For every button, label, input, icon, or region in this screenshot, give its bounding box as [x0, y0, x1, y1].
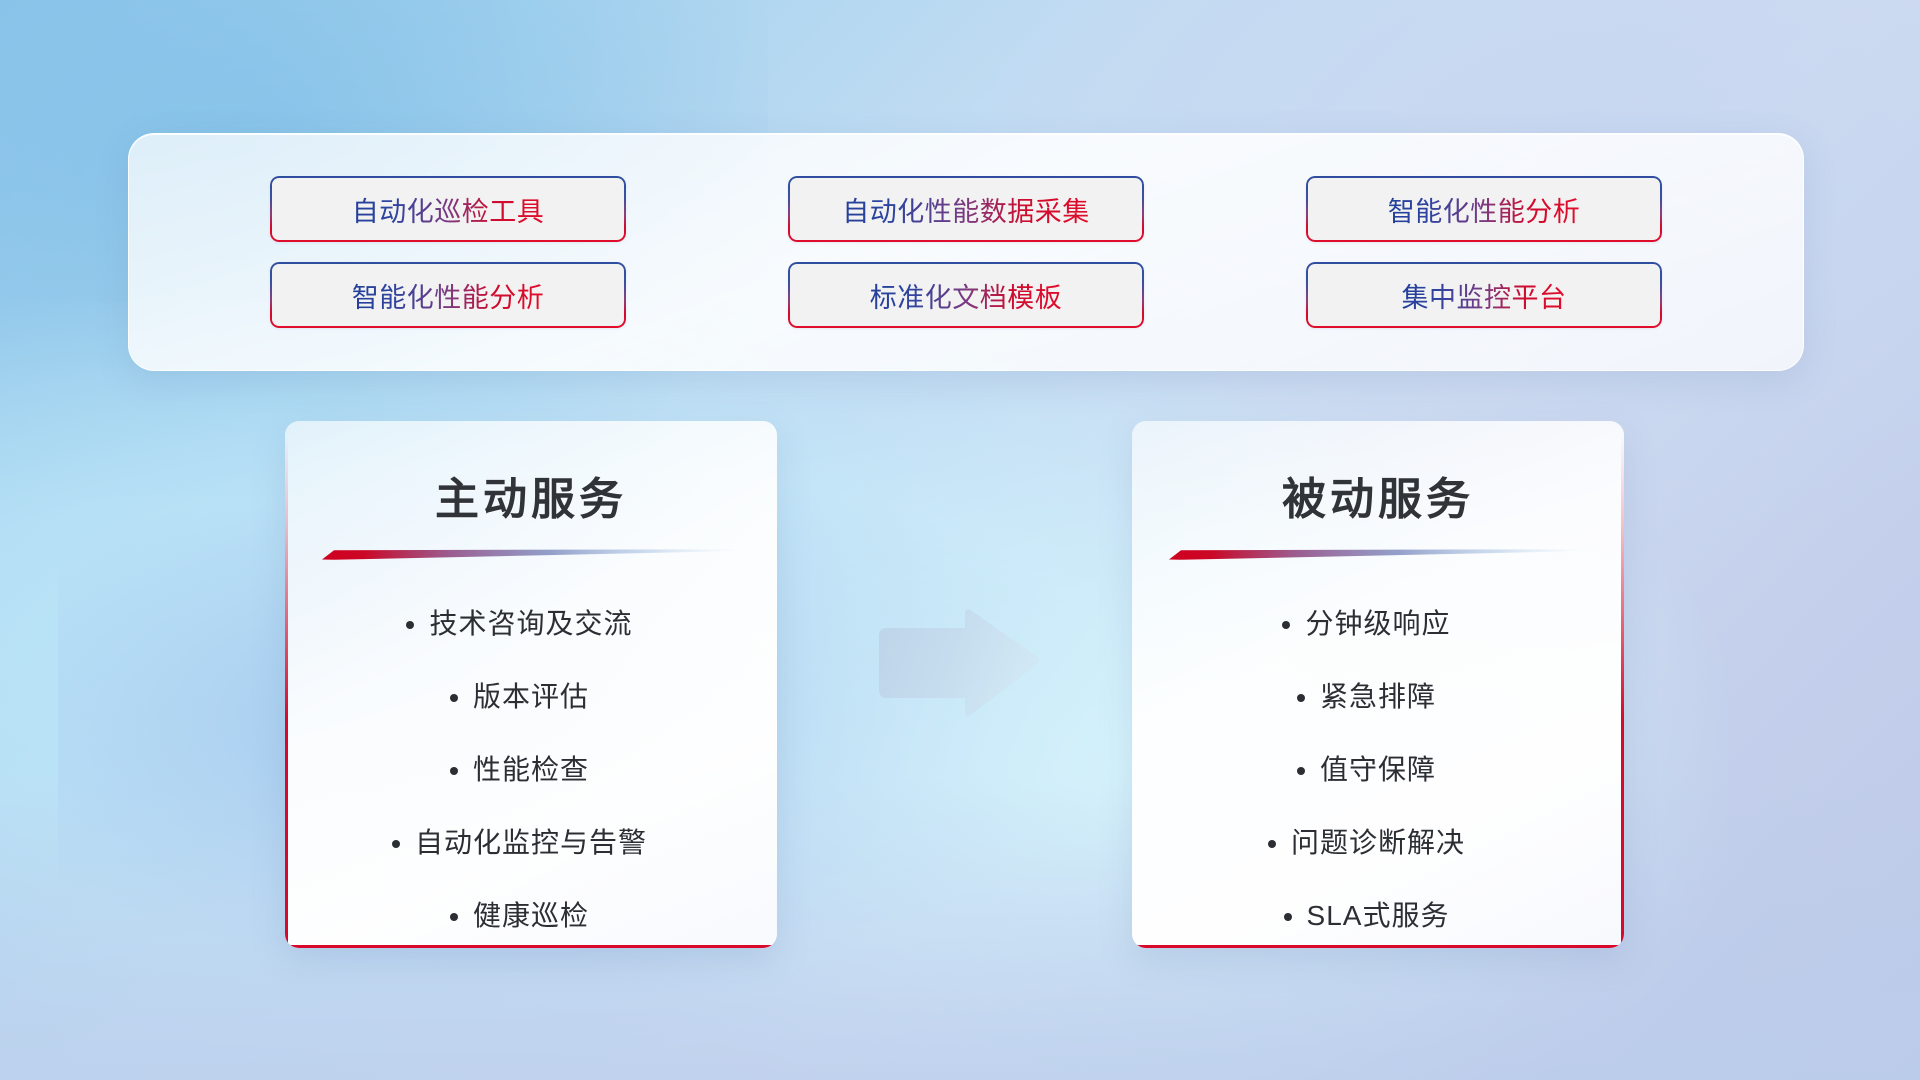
service-list-item[interactable]: SLA式服务 — [1307, 888, 1450, 944]
service-card-title: 被动服务 — [1132, 463, 1624, 527]
capability-pill-label: 自动化巡检工具 — [352, 190, 545, 229]
capability-pill-centralized-monitoring-platform[interactable]: 集中监控平台 — [1306, 262, 1662, 328]
capability-pill-label: 集中监控平台 — [1402, 276, 1567, 315]
capability-panel: 自动化巡检工具 自动化性能数据采集 智能化性能分析 智能化性能分析 标准化文档模… — [128, 133, 1804, 371]
capability-pill-intelligent-performance-analysis-1[interactable]: 智能化性能分析 — [1306, 176, 1662, 242]
capability-pill-intelligent-performance-analysis-2[interactable]: 智能化性能分析 — [270, 262, 626, 328]
card-accent-edge-bottom — [1132, 945, 1624, 948]
capability-row-1: 自动化巡检工具 自动化性能数据采集 智能化性能分析 — [129, 176, 1803, 242]
service-item-list: 技术咨询及交流 版本评估 性能检查 自动化监控与告警 健康巡检 — [285, 596, 777, 944]
card-accent-edge-bottom — [285, 945, 777, 948]
capability-pill-label: 智能化性能分析 — [352, 276, 545, 315]
service-card-title: 主动服务 — [285, 463, 777, 527]
service-list-item[interactable]: 技术咨询及交流 — [429, 596, 632, 652]
capability-pill-automated-performance-data-collection[interactable]: 自动化性能数据采集 — [788, 176, 1144, 242]
service-list-item[interactable]: 自动化监控与告警 — [415, 815, 647, 871]
card-accent-edge-left — [285, 435, 288, 948]
capability-pill-label: 标准化文档模板 — [870, 276, 1063, 315]
title-underline-accent — [1169, 549, 1587, 560]
service-list-item[interactable]: 紧急排障 — [1320, 669, 1436, 725]
service-list-item[interactable]: 分钟级响应 — [1305, 596, 1450, 652]
card-accent-edge-right — [1621, 435, 1624, 948]
service-list-item[interactable]: 版本评估 — [473, 669, 589, 725]
capability-pill-automated-inspection-tool[interactable]: 自动化巡检工具 — [270, 176, 626, 242]
capability-row-2: 智能化性能分析 标准化文档模板 集中监控平台 — [129, 262, 1803, 328]
service-list-item[interactable]: 值守保障 — [1320, 742, 1436, 798]
service-list-item[interactable]: 问题诊断解决 — [1291, 815, 1465, 871]
arrow-right-icon — [873, 608, 1041, 720]
service-list-item[interactable]: 健康巡检 — [473, 888, 589, 944]
capability-pill-label: 智能化性能分析 — [1388, 190, 1581, 229]
service-list-item[interactable]: 性能检查 — [473, 742, 589, 798]
capability-pill-standardized-document-template[interactable]: 标准化文档模板 — [788, 262, 1144, 328]
title-underline-accent — [322, 549, 740, 560]
capability-pill-label: 自动化性能数据采集 — [842, 190, 1090, 229]
service-item-list: 分钟级响应 紧急排障 值守保障 问题诊断解决 SLA式服务 — [1132, 596, 1624, 944]
service-card-proactive: 主动服务 技术咨询及交流 版本评估 性能检查 — [285, 421, 777, 948]
service-card-reactive: 被动服务 分钟级响应 紧急排障 值守保障 — [1132, 421, 1624, 948]
